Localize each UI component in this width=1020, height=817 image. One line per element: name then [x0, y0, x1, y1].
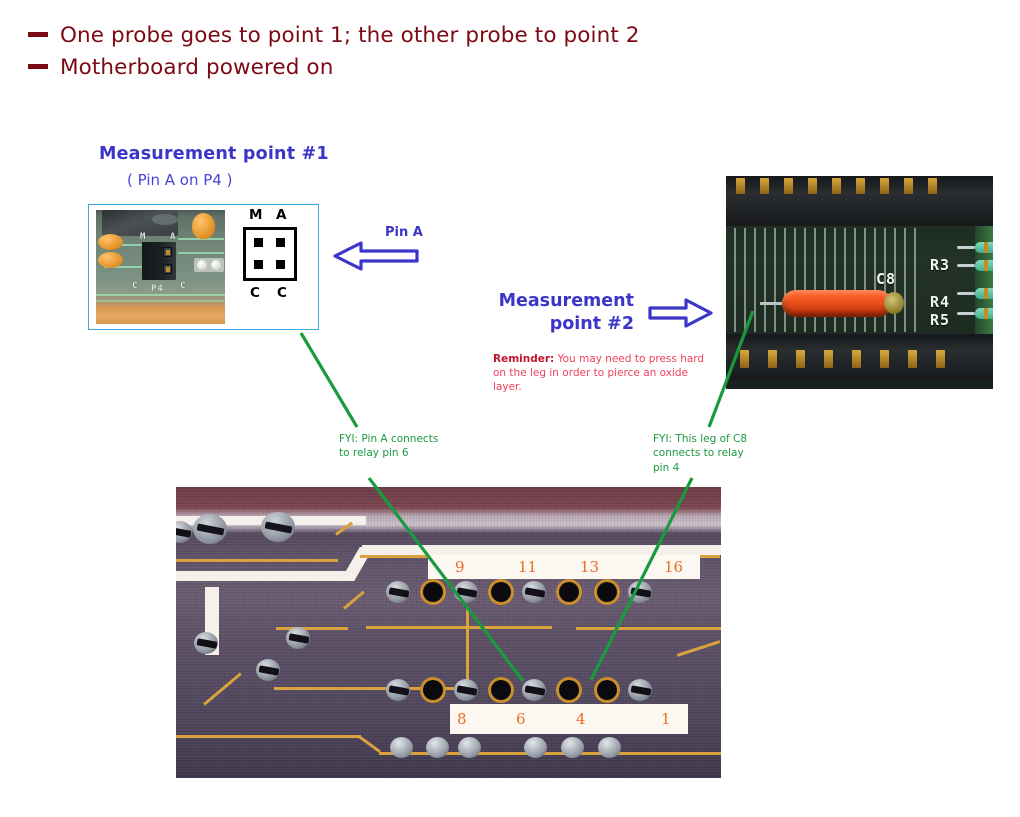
p4-connector-photo: M A C P4 C	[96, 210, 225, 324]
relay-number-1: 1	[661, 710, 671, 728]
gold-trace	[276, 627, 348, 630]
socket-pin	[760, 178, 769, 194]
pin-label-C-right: C	[277, 285, 287, 301]
bullet-item: Motherboard powered on	[28, 56, 788, 79]
pin-a-callout-label: Pin A	[385, 225, 423, 240]
solder-pad-group	[194, 258, 224, 272]
bullet-list: One probe goes to point 1; the other pro…	[28, 24, 788, 88]
relay-pin-hole	[597, 680, 617, 700]
pin-C-left	[254, 260, 263, 269]
pcb-trace	[178, 252, 224, 254]
pin-M	[254, 238, 263, 247]
solder-pad	[286, 627, 310, 649]
gold-trace	[466, 609, 469, 687]
silkscreen-C: C	[132, 281, 138, 291]
solder-pad	[256, 659, 280, 681]
bullet-dash-icon	[28, 32, 48, 37]
gold-trace	[176, 735, 361, 738]
bullet-text: One probe goes to point 1; the other pro…	[60, 24, 640, 47]
relay-number-6: 6	[516, 710, 526, 728]
orange-capacitor	[192, 213, 215, 239]
silkscreen-C: C	[180, 281, 186, 291]
reminder-note: Reminder: You may need to press hard on …	[493, 353, 715, 395]
socket-pin	[808, 178, 817, 194]
silkscreen-P4: P4	[151, 284, 164, 294]
pin-label-C-left: C	[250, 285, 260, 301]
socket-pin	[852, 350, 861, 368]
measurement-point-2-title-line1: Measurement	[484, 290, 634, 313]
screw-head	[261, 512, 295, 542]
relay-pin-pad	[628, 679, 652, 701]
leader-line-panel1-to-fyi	[301, 333, 357, 427]
relay-pin-pad	[628, 581, 652, 603]
relay-pin-hole	[597, 582, 617, 602]
socket-pin	[928, 178, 937, 194]
axial-resistor	[975, 242, 993, 253]
relay-number-8: 8	[457, 710, 467, 728]
arrow-left-icon	[333, 240, 419, 272]
relay-number-13: 13	[580, 558, 599, 576]
socket-pin	[796, 350, 805, 368]
pin-C-right	[276, 260, 285, 269]
mask-band	[362, 545, 721, 555]
measurement-point-1-subtitle: ( Pin A on P4 )	[127, 171, 232, 189]
silkscreen-M: M	[140, 232, 146, 242]
measurement-point-1-panel: M A C P4 C M A C C	[88, 204, 319, 330]
socket-pin	[936, 350, 945, 368]
gold-trace	[176, 559, 338, 562]
gold-trace	[366, 626, 552, 629]
gold-trace	[576, 627, 721, 630]
silkscreen-R4: R4	[930, 293, 950, 311]
reminder-label: Reminder:	[493, 353, 554, 365]
connector-pin	[163, 264, 172, 274]
arrow-right-icon	[648, 297, 713, 329]
socket-pin	[824, 350, 833, 368]
solder-blob	[561, 737, 584, 758]
relay-pin-pad	[454, 679, 478, 701]
axial-resistor	[975, 288, 993, 299]
axial-resistor	[975, 308, 993, 319]
relay-pin-hole	[491, 582, 511, 602]
p4-pinout-diagram	[243, 227, 297, 281]
relay-pin-hole	[491, 680, 511, 700]
measurement-point-2-title: Measurement point #2	[484, 290, 634, 336]
slide-canvas: One probe goes to point 1; the other pro…	[0, 0, 1020, 817]
bullet-item: One probe goes to point 1; the other pro…	[28, 24, 788, 47]
pin-label-M: M	[249, 207, 262, 223]
relay-pin-pad	[386, 581, 410, 603]
relay-number-11: 11	[518, 558, 537, 576]
socket-pin	[856, 178, 865, 194]
relay-pin-hole	[559, 680, 579, 700]
socket-pin	[908, 350, 917, 368]
connector-pin	[163, 247, 172, 257]
silkscreen-A: A	[170, 232, 176, 242]
relay-number-16: 16	[664, 558, 683, 576]
bullet-text: Motherboard powered on	[60, 56, 333, 79]
fyi-note-pin-a: FYI: Pin A connects to relay pin 6	[339, 432, 444, 461]
c8-leg-photo: C8 R3 R4 R5	[726, 176, 993, 389]
silkscreen-R5: R5	[930, 311, 950, 329]
relay-pin-hole	[423, 680, 443, 700]
relay-pin-hole	[559, 582, 579, 602]
c8-component-body	[782, 290, 892, 317]
measurement-point-1-title: Measurement point #1	[99, 144, 329, 164]
pin-A	[276, 238, 285, 247]
solder-blob	[390, 737, 413, 758]
c8-solder-joint	[884, 292, 904, 314]
relay-top-number-strip: 9 11 13 16	[428, 555, 700, 579]
pcb-trace	[96, 300, 225, 302]
pin-label-A: A	[276, 207, 286, 223]
relay-bottom-number-strip: 8 6 4 1	[450, 704, 688, 734]
relay-socket-photo: 9 11 13 16 8 6 4 1	[176, 487, 721, 778]
socket-pin	[904, 178, 913, 194]
relay-pin-pad	[522, 581, 546, 603]
socket-pin	[784, 178, 793, 194]
socket-pin	[768, 350, 777, 368]
socket-pin	[740, 350, 749, 368]
fyi-note-c8-leg: FYI: This leg of C8 connects to relay pi…	[653, 432, 758, 475]
relay-pin-pad	[386, 679, 410, 701]
solder-blob	[426, 737, 449, 758]
solder-blob	[598, 737, 621, 758]
socket-pin	[832, 178, 841, 194]
pcb-trace	[96, 294, 225, 296]
socket-pin	[880, 350, 889, 368]
solder-blob	[524, 737, 547, 758]
socket-pin	[880, 178, 889, 194]
relay-pin-hole	[423, 582, 443, 602]
axial-resistor	[975, 260, 993, 271]
orange-capacitor	[98, 252, 123, 268]
silkscreen-R3: R3	[930, 256, 950, 274]
solder-pad	[194, 632, 218, 654]
mask-band	[176, 571, 351, 581]
silkscreen-C8: C8	[876, 270, 896, 288]
relay-number-4: 4	[576, 710, 586, 728]
socket-pin	[736, 178, 745, 194]
p4-connector-body	[142, 242, 176, 280]
relay-pin-pad	[454, 581, 478, 603]
component-marking	[152, 214, 178, 225]
solder-blob	[458, 737, 481, 758]
bullet-dash-icon	[28, 64, 48, 69]
orange-capacitor	[98, 234, 123, 250]
screw-head	[193, 514, 227, 544]
relay-number-9: 9	[455, 558, 465, 576]
measurement-point-2-title-line2: point #2	[484, 313, 634, 336]
relay-pin-pad	[522, 679, 546, 701]
